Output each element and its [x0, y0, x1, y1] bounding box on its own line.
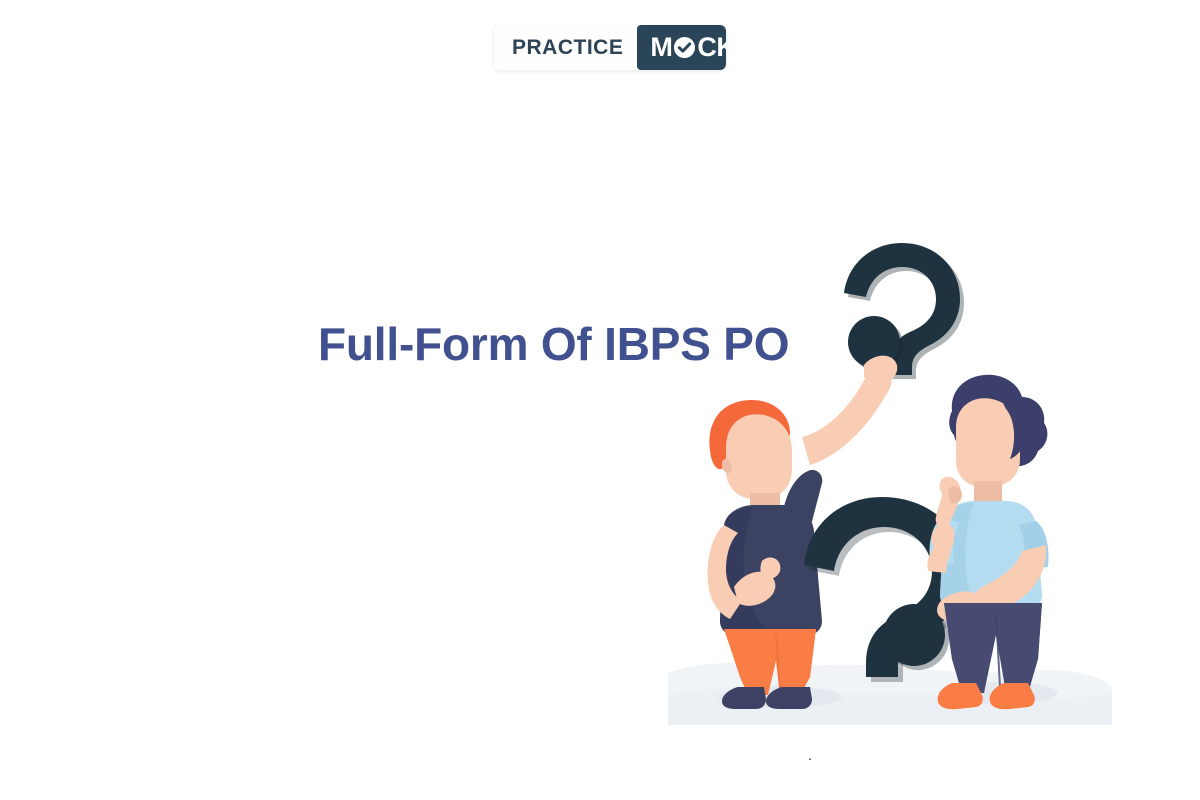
right-person: [927, 375, 1048, 710]
two-people-with-question-marks-illustration: [650, 225, 1120, 745]
trailing-period-mark: .: [808, 748, 812, 763]
logo-mock-ck: CK: [697, 34, 726, 61]
practicemock-logo[interactable]: PRACTICE M CK: [494, 25, 726, 70]
logo-mock-badge: M CK: [637, 25, 726, 70]
question-mark-top: [844, 243, 964, 379]
check-circle-icon: [673, 36, 696, 59]
logo-mock-text: M CK: [650, 34, 726, 61]
question-mark-bottom-dot: [883, 604, 945, 666]
logo-mock-m: M: [650, 34, 672, 61]
left-person-head: [726, 414, 792, 499]
logo-practice-word: PRACTICE: [494, 25, 637, 70]
logo-practice-text: PRACTICE: [512, 36, 623, 60]
